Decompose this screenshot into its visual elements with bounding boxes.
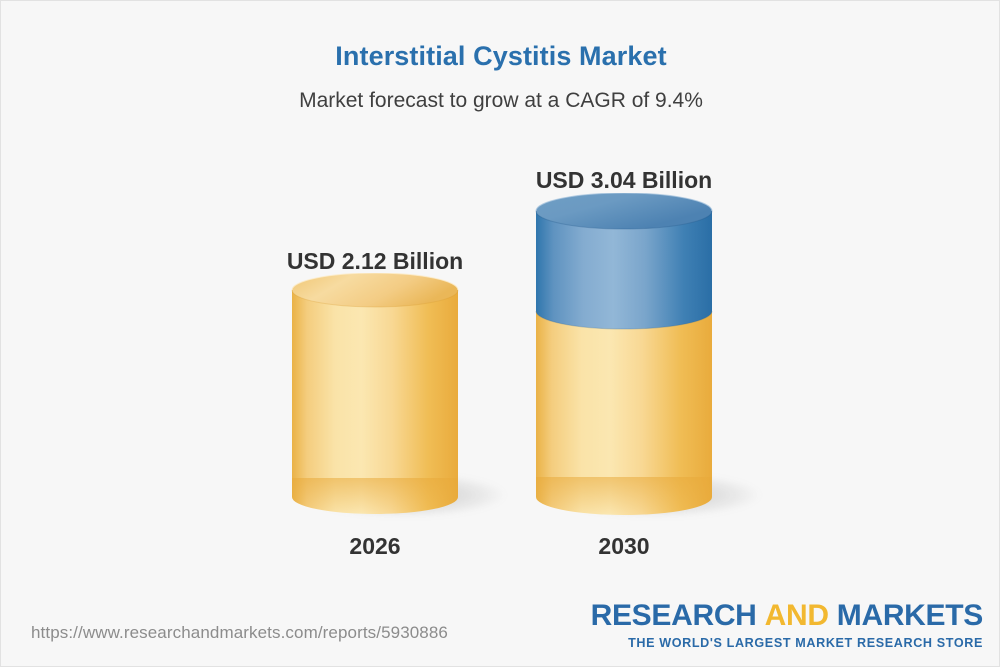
brand-word-markets: MARKETS [837,599,983,632]
brand-tagline: THE WORLD'S LARGEST MARKET RESEARCH STOR… [591,637,983,650]
cylinder-2030 [454,193,794,529]
bar-value-label-2030: USD 3.04 Billion [454,167,794,194]
brand-word-research: RESEARCH [591,599,757,632]
bar-group-2030: USD 3.04 Billion [454,1,794,601]
bar-category-label-2030: 2030 [454,533,794,560]
infographic-canvas: Interstitial Cystitis Market Market fore… [0,0,1000,667]
report-url[interactable]: https://www.researchandmarkets.com/repor… [31,623,448,643]
chart-plot-area: USD 2.12 Billion [1,1,1000,601]
brand-wordmark: RESEARCH AND MARKETS [591,601,983,631]
brand-word-and: AND [765,599,829,632]
brand-logo: RESEARCH AND MARKETS THE WORLD'S LARGEST… [591,601,983,650]
